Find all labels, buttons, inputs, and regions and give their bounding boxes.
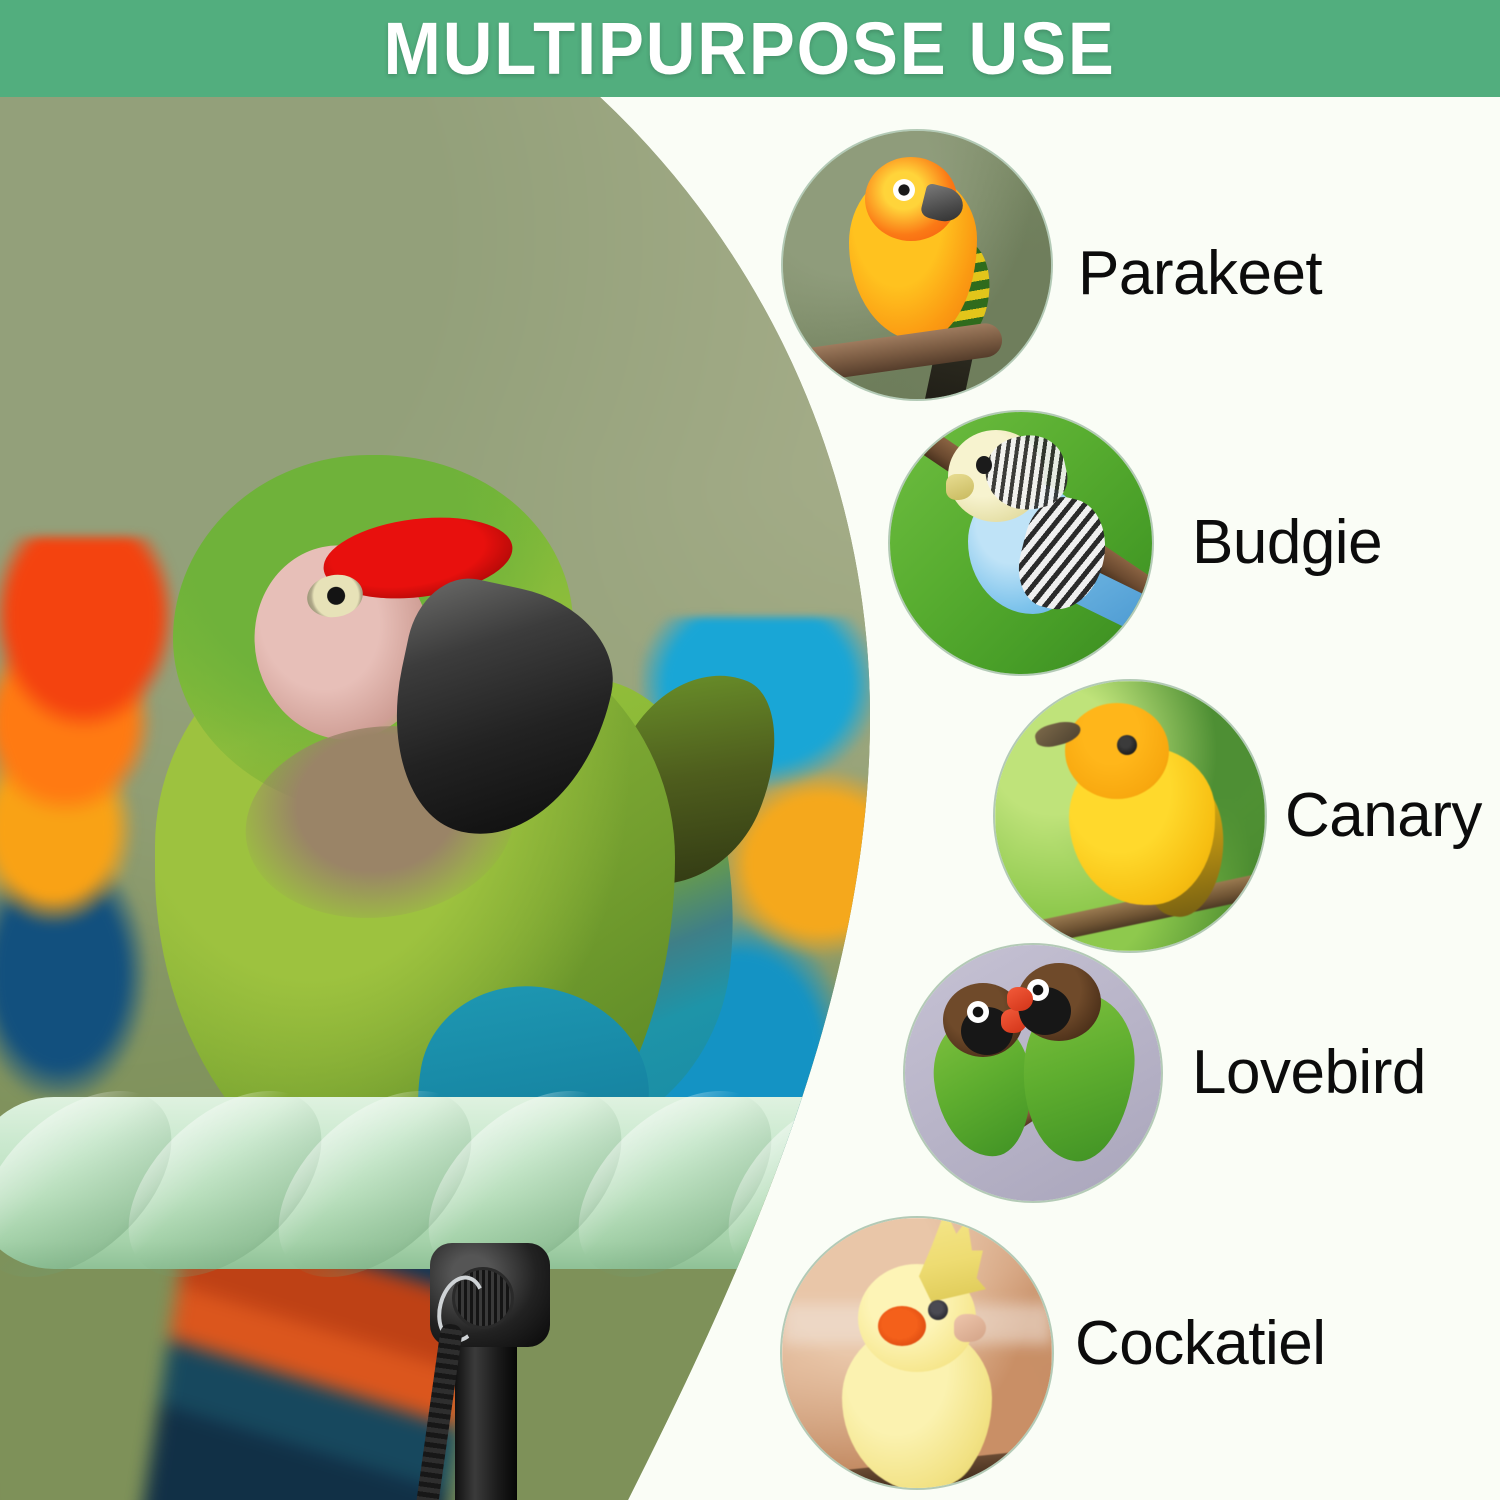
parakeet-thumbnail bbox=[783, 131, 1051, 399]
canary-label: Canary bbox=[1285, 785, 1482, 847]
lovebird-photo bbox=[905, 945, 1161, 1201]
parakeet-label: Parakeet bbox=[1078, 243, 1322, 305]
infographic-root: MULTIPURPOSE USE Parakeet Budgie bbox=[0, 0, 1500, 1500]
cockatiel-cheek-patch bbox=[878, 1306, 926, 1346]
lovebird-label: Lovebird bbox=[1192, 1042, 1426, 1104]
header-banner: MULTIPURPOSE USE bbox=[0, 0, 1500, 97]
canary-photo bbox=[995, 681, 1265, 951]
cockatiel-eye bbox=[928, 1300, 948, 1320]
canary-head bbox=[1065, 703, 1169, 799]
budgie-eye bbox=[976, 456, 992, 474]
budgie-photo bbox=[890, 412, 1152, 674]
lovebird-thumbnail bbox=[905, 945, 1161, 1201]
cockatiel-label: Cockatiel bbox=[1075, 1313, 1326, 1375]
lovebird-right-beak bbox=[1007, 987, 1033, 1011]
banner-title: MULTIPURPOSE USE bbox=[384, 12, 1116, 86]
cockatiel-thumbnail bbox=[782, 1218, 1052, 1488]
cockatiel-beak bbox=[954, 1314, 986, 1342]
canary-thumbnail bbox=[995, 681, 1265, 951]
canary-eye bbox=[1117, 735, 1137, 755]
cockatiel-photo bbox=[782, 1218, 1052, 1488]
parakeet-photo bbox=[783, 131, 1051, 399]
budgie-thumbnail bbox=[890, 412, 1152, 674]
budgie-label: Budgie bbox=[1192, 512, 1382, 574]
parakeet-eye bbox=[893, 179, 915, 201]
lovebird-left-eye bbox=[967, 1001, 989, 1023]
